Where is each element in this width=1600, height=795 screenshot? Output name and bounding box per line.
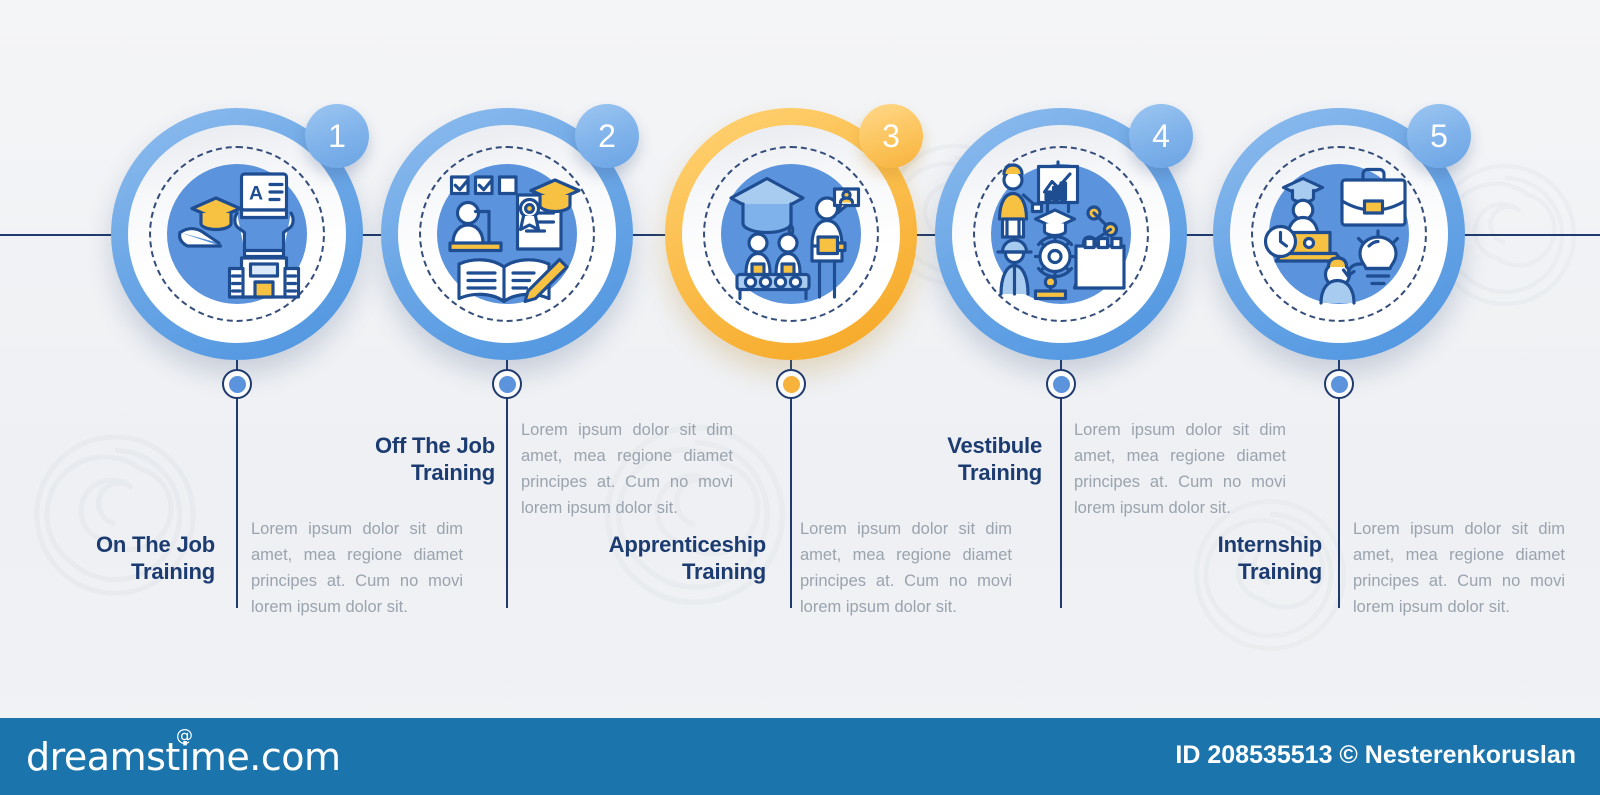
infographic-canvas: A 1 (0, 0, 1600, 795)
step-body-1: Lorem ipsum dolor sit dim amet, mea regi… (251, 516, 463, 620)
hand-graduation-cap-tablet-office-icon: A (151, 148, 323, 320)
step-title-3: Apprenticeship Training (578, 531, 766, 585)
step-title-5: Internship Training (1165, 531, 1322, 585)
connector-marker-3[interactable] (776, 369, 806, 399)
footer-bar: dreamstime.com @ ID 208535513 © Nesteren… (0, 718, 1600, 795)
step-badge-1: 1 (305, 104, 369, 168)
trainer-chart-robot-arm-hardhat-gear-icon (975, 148, 1147, 320)
step-node-3[interactable]: 3 (665, 108, 917, 360)
checklist-desk-certificate-book-icon (421, 148, 593, 320)
connector-marker-4[interactable] (1046, 369, 1076, 399)
step-number-3: 3 (882, 120, 900, 152)
step-node-2[interactable]: 2 (381, 108, 633, 360)
graduation-cap-conveyor-workers-supervisor-icon (705, 148, 877, 320)
step-node-5[interactable]: 5 (1213, 108, 1465, 360)
step-body-2: Lorem ipsum dolor sit dim amet, mea regi… (521, 417, 733, 521)
image-credit: ID 208535513 © Nesterenkoruslan (1175, 741, 1576, 770)
connector-marker-1[interactable] (222, 369, 252, 399)
step-title-1: On The Job Training (60, 531, 215, 585)
graduate-laptop-clock-briefcase-idea-icon (1253, 148, 1425, 320)
connector-marker-2[interactable] (492, 369, 522, 399)
step-title-2: Off The Job Training (330, 432, 495, 486)
step-title-4: Vestibule Training (880, 432, 1042, 486)
dreamstime-logo: dreamstime.com @ (26, 735, 340, 779)
step-number-5: 5 (1430, 120, 1448, 152)
step-badge-4: 4 (1129, 104, 1193, 168)
step-badge-5: 5 (1407, 104, 1471, 168)
step-node-1[interactable]: A 1 (111, 108, 363, 360)
step-node-4[interactable]: 4 (935, 108, 1187, 360)
step-badge-2: 2 (575, 104, 639, 168)
step-body-5: Lorem ipsum dolor sit dim amet, mea regi… (1353, 516, 1565, 620)
step-badge-3: 3 (859, 104, 923, 168)
registered-mark-icon: @ (176, 726, 193, 746)
step-number-4: 4 (1152, 120, 1170, 152)
connector-marker-5[interactable] (1324, 369, 1354, 399)
step-body-3: Lorem ipsum dolor sit dim amet, mea regi… (800, 516, 1012, 620)
step-number-1: 1 (328, 120, 346, 152)
step-body-4: Lorem ipsum dolor sit dim amet, mea regi… (1074, 417, 1286, 521)
step-number-2: 2 (598, 120, 616, 152)
svg-text:A: A (249, 183, 263, 205)
